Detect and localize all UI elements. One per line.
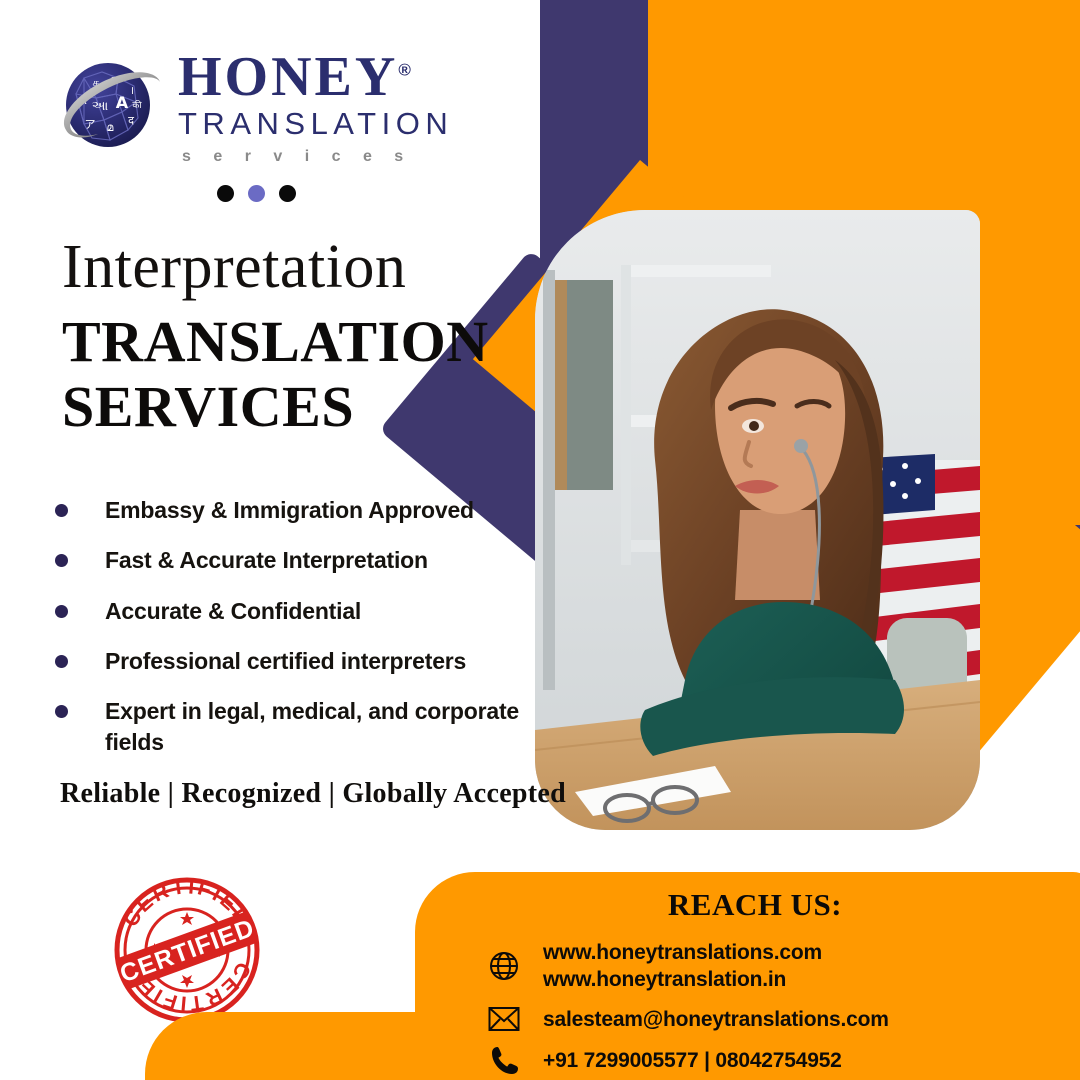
list-item: Embassy & Immigration Approved — [55, 495, 525, 525]
bullet-icon — [55, 655, 68, 668]
feature-list: Embassy & Immigration Approved Fast & Ac… — [55, 495, 525, 777]
list-item-label: Fast & Accurate Interpretation — [105, 545, 428, 575]
email-address[interactable]: salesteam@honeytranslations.com — [543, 1006, 889, 1033]
contact-content: REACH US: www.honeytranslations.com www.… — [415, 872, 1080, 1080]
logo-line-translation: TRANSLATION — [178, 105, 453, 144]
website-primary[interactable]: www.honeytranslations.com — [543, 941, 822, 964]
logo-dots — [217, 185, 472, 202]
bullet-icon — [55, 504, 68, 517]
email-row[interactable]: salesteam@honeytranslations.com — [415, 1006, 1080, 1033]
dot-1 — [217, 185, 234, 202]
phone-row[interactable]: +91 7299005577 | 08042754952 — [415, 1045, 1080, 1077]
phone-numbers[interactable]: +91 7299005577 | 08042754952 — [543, 1047, 842, 1074]
dot-3 — [279, 185, 296, 202]
interpreter-at-desk-photo — [535, 210, 980, 830]
logo-wordmark: HONEY® TRANSLATION s e r v i c e s — [178, 46, 453, 169]
poster-canvas: க म । ગ આ A की ア മ द HONEY® — [0, 0, 1080, 1080]
brand-logo[interactable]: க म । ગ આ A की ア മ द HONEY® — [52, 46, 472, 202]
logo-line-services: s e r v i c e s — [178, 144, 453, 170]
website-row[interactable]: www.honeytranslations.com www.honeytrans… — [415, 939, 1080, 994]
list-item: Professional certified interpreters — [55, 646, 525, 676]
contact-title: REACH US: — [415, 872, 1080, 923]
bullet-icon — [55, 554, 68, 567]
registered-mark: ® — [398, 60, 411, 79]
globe-languages-icon: க म । ગ આ A की ア മ द — [52, 52, 164, 164]
svg-text:A: A — [116, 93, 129, 112]
headline-script: Interpretation — [62, 236, 489, 298]
tagline: Reliable | Recognized | Globally Accepte… — [60, 778, 566, 810]
svg-text:की: की — [132, 99, 142, 111]
list-item: Accurate & Confidential — [55, 596, 525, 626]
headline-block: Interpretation TRANSLATION SERVICES — [62, 236, 489, 440]
bullet-icon — [55, 705, 68, 718]
svg-text:ア: ア — [85, 118, 96, 131]
headline-line-2: SERVICES — [62, 375, 489, 440]
phone-icon — [485, 1045, 523, 1077]
list-item-label: Accurate & Confidential — [105, 596, 361, 626]
bullet-icon — [55, 605, 68, 618]
list-item: Fast & Accurate Interpretation — [55, 545, 525, 575]
svg-text:આ: આ — [92, 99, 109, 114]
svg-text:മ: മ — [107, 121, 114, 134]
list-item-label: Expert in legal, medical, and corporate … — [105, 696, 525, 757]
svg-text:द: द — [128, 114, 134, 127]
logo-name: HONEY — [178, 46, 398, 108]
certified-stamp-icon: CERTIFIED CERTIFIED CERTIFIED — [105, 868, 270, 1033]
envelope-icon — [485, 1006, 523, 1032]
headline-line-1: TRANSLATION — [62, 310, 489, 375]
dot-2 — [248, 185, 265, 202]
svg-text:।: । — [130, 84, 134, 97]
globe-icon — [485, 950, 523, 982]
list-item-label: Embassy & Immigration Approved — [105, 495, 474, 525]
list-item: Expert in legal, medical, and corporate … — [55, 696, 525, 757]
website-secondary[interactable]: www.honeytranslation.in — [543, 968, 786, 991]
list-item-label: Professional certified interpreters — [105, 646, 466, 676]
